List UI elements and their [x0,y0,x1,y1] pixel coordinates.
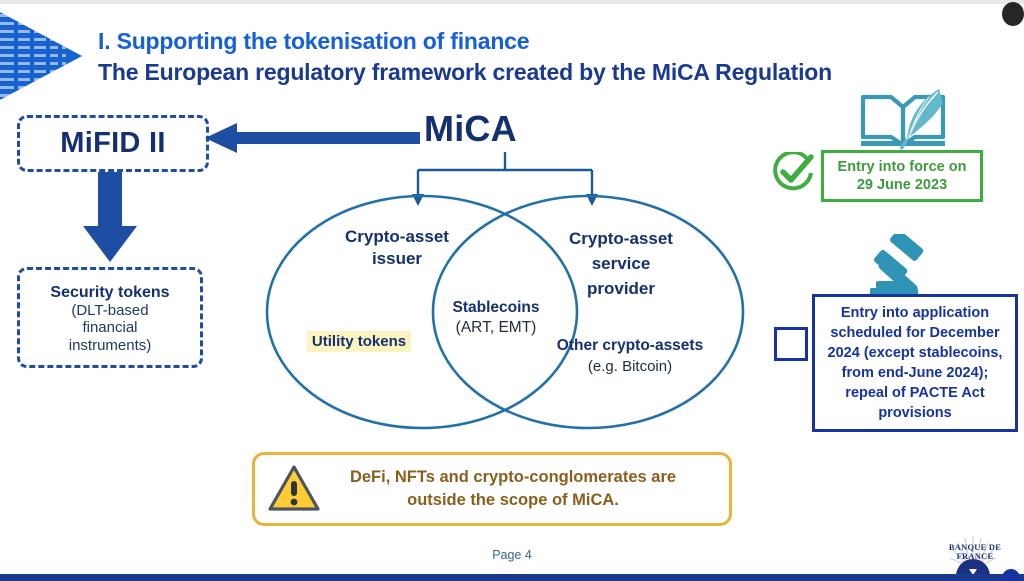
entry-into-force-box: Entry into force on 29 June 2023 [821,150,983,202]
page-number: Page 4 [0,548,1024,562]
utility-tokens-item: Utility tokens [296,331,422,352]
book-quill-icon [857,87,953,153]
banque-de-france-wordmark: BANQUE DE FRANCE [930,543,1020,561]
warning-text: DeFi, NFTs and crypto-conglomerates are … [255,466,729,512]
warning-box: DeFi, NFTs and crypto-conglomerates are … [252,452,732,526]
title-line-1: I. Supporting the tokenisation of financ… [98,26,968,56]
mifid-ii-label: MiFID II [60,127,166,160]
entry-into-force-line-1: Entry into force on [838,158,967,176]
slide-canvas: I. Supporting the tokenisation of financ… [0,0,1024,581]
venn-intersection-sub: (ART, EMT) [437,318,555,338]
top-right-corner-dot-icon [1002,2,1024,26]
entry-application-line-3: 2024 (except stablecoins, [828,343,1003,363]
down-arrow-icon [81,172,139,264]
entry-application-line-6: provisions [828,403,1003,423]
venn-intersection-label: Stablecoins (ART, EMT) [437,298,555,338]
other-crypto-assets-title: Other crypto-assets [540,335,720,356]
entry-into-force-text: Entry into force on 29 June 2023 [838,158,967,194]
decorative-triangle-icon [0,6,104,106]
security-tokens-sub-1: (DLT-based [71,302,148,320]
entry-application-line-5: repeal of PACTE Act [828,383,1003,403]
mica-label: MiCA [424,108,517,150]
venn-left-label: Crypto-asset issuer [312,226,482,270]
title-line-2: The European regulatory framework create… [98,56,968,88]
venn-right-label-line-3: provider [541,276,701,301]
bottom-right-corner-dot-icon [1002,569,1020,581]
utility-tokens-label: Utility tokens [307,331,411,352]
security-tokens-box: Security tokens (DLT-based financial ins… [17,267,203,368]
check-circle-icon [772,152,814,194]
entry-application-line-2: scheduled for December [828,323,1003,343]
slide-title: I. Supporting the tokenisation of financ… [98,26,968,88]
venn-right-label: Crypto-asset service provider [541,226,701,301]
venn-right-label-line-2: service [541,251,701,276]
warning-line-1: DeFi, NFTs and crypto-conglomerates are [307,466,719,489]
warning-triangle-icon [268,464,320,512]
entry-into-force-line-2: 29 June 2023 [838,176,967,194]
venn-right-label-line-1: Crypto-asset [541,226,701,251]
warning-line-2: outside the scope of MiCA. [307,489,719,512]
left-arrow-icon [205,122,420,154]
entry-application-line-4: from end-June 2024); [828,363,1003,383]
mifid-ii-box: MiFID II [17,115,209,172]
entry-into-application-text: Entry into application scheduled for Dec… [822,303,1009,423]
bottom-chrome-strip [0,574,1024,581]
entry-application-line-1: Entry into application [828,303,1003,323]
top-chrome-strip [0,0,1024,4]
security-tokens-sub-2: financial [82,319,137,337]
security-tokens-title: Security tokens [50,283,169,302]
venn-intersection-title: Stablecoins [437,298,555,318]
entry-into-application-box: Entry into application scheduled for Dec… [812,294,1018,432]
security-tokens-sub-3: instruments) [69,337,152,355]
empty-checkbox-icon[interactable] [774,327,808,361]
other-crypto-assets-sub: (e.g. Bitcoin) [540,356,720,377]
venn-left-label-line-1: Crypto-asset [312,226,482,248]
other-crypto-assets-item: Other crypto-assets (e.g. Bitcoin) [540,335,720,377]
venn-left-label-line-2: issuer [312,248,482,270]
